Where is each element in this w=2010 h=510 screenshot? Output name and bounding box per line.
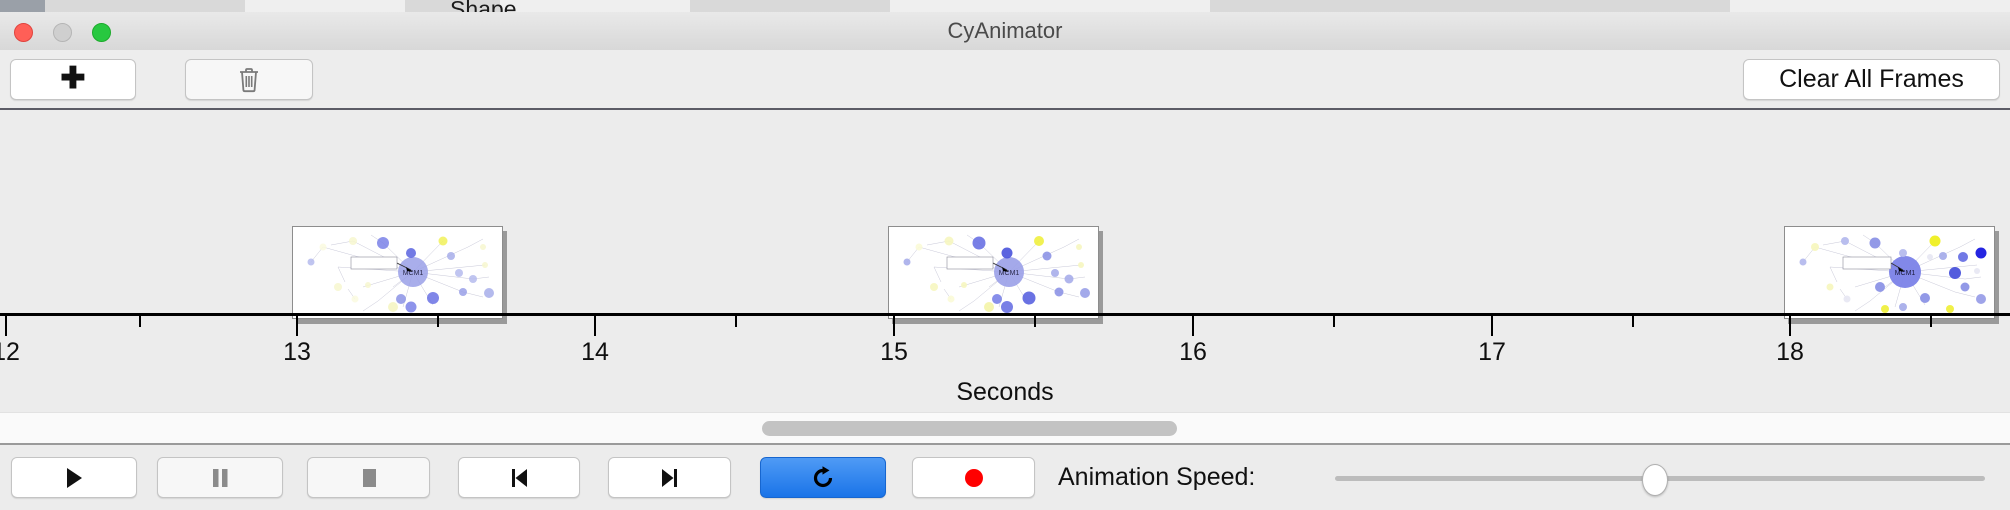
trash-icon bbox=[238, 67, 260, 93]
timeline-frame[interactable]: MCM1 bbox=[292, 226, 507, 322]
axis-tick bbox=[1789, 316, 1791, 336]
window-title: CyAnimator bbox=[0, 12, 2010, 50]
loop-icon bbox=[810, 465, 836, 491]
clear-all-frames-button[interactable]: Clear All Frames bbox=[1743, 59, 2000, 100]
record-button[interactable] bbox=[912, 457, 1035, 498]
animation-speed-slider[interactable] bbox=[1335, 476, 1985, 481]
animation-speed-label: Animation Speed: bbox=[1058, 457, 1255, 498]
pause-icon bbox=[209, 466, 231, 490]
axis-tick-label: 17 bbox=[1478, 338, 1506, 367]
delete-frame-button[interactable] bbox=[185, 59, 313, 100]
network-thumbnail-image: MCM1 bbox=[1785, 227, 1994, 318]
timeline-frame[interactable]: MCM1 bbox=[888, 226, 1103, 322]
axis-tick-label: 15 bbox=[880, 338, 908, 367]
add-frame-button[interactable]: ✚ bbox=[10, 59, 136, 100]
timeline-frame[interactable]: MCM1 bbox=[1784, 226, 1999, 322]
title-bar: CyAnimator bbox=[0, 12, 2010, 51]
axis-tick-label: 13 bbox=[283, 338, 311, 367]
record-icon bbox=[962, 466, 986, 490]
cyanimator-window: Shape CyAnimator ✚ Clear All Frames bbox=[0, 0, 2010, 510]
skip-back-icon bbox=[508, 466, 530, 490]
axis-tick bbox=[1930, 316, 1932, 327]
timeline-scrollbar-thumb[interactable] bbox=[762, 421, 1177, 436]
playback-toolbar: Animation Speed: bbox=[0, 445, 2010, 510]
stop-icon bbox=[358, 466, 380, 490]
frame-thumbnail: MCM1 bbox=[888, 226, 1099, 319]
axis-tick bbox=[296, 316, 298, 336]
network-thumbnail-image: MCM1 bbox=[889, 227, 1098, 318]
last-frame-button[interactable] bbox=[608, 457, 731, 498]
axis-tick bbox=[1192, 316, 1194, 336]
axis-tick bbox=[1491, 316, 1493, 336]
svg-text:MCM1: MCM1 bbox=[403, 270, 424, 277]
frame-thumbnail: MCM1 bbox=[1784, 226, 1995, 319]
axis-tick bbox=[1333, 316, 1335, 327]
axis-tick-label: 18 bbox=[1776, 338, 1804, 367]
axis-title: Seconds bbox=[0, 378, 2010, 407]
clear-all-frames-label: Clear All Frames bbox=[1779, 65, 1964, 94]
axis-tick bbox=[139, 316, 141, 327]
play-button[interactable] bbox=[11, 457, 137, 498]
network-thumbnail-image: MCM1 bbox=[293, 227, 502, 318]
slider-thumb[interactable] bbox=[1642, 464, 1668, 496]
frame-thumbnail: MCM1 bbox=[292, 226, 503, 319]
axis-tick bbox=[1632, 316, 1634, 327]
timeline-scrollbar[interactable] bbox=[0, 412, 2010, 445]
svg-text:MCM1: MCM1 bbox=[1895, 270, 1916, 277]
timeline-panel[interactable]: MCM1 bbox=[0, 110, 2010, 410]
axis-tick bbox=[437, 316, 439, 327]
axis-tick bbox=[735, 316, 737, 327]
toolbar: ✚ Clear All Frames bbox=[0, 50, 2010, 110]
axis-tick-label: 16 bbox=[1179, 338, 1207, 367]
axis-tick-label: 14 bbox=[581, 338, 609, 367]
timeline-axis-line bbox=[0, 313, 2010, 316]
plus-icon: ✚ bbox=[60, 64, 85, 94]
first-frame-button[interactable] bbox=[458, 457, 580, 498]
loop-button[interactable] bbox=[760, 457, 886, 498]
svg-text:MCM1: MCM1 bbox=[999, 270, 1020, 277]
skip-forward-icon bbox=[659, 466, 681, 490]
axis-tick bbox=[594, 316, 596, 336]
play-icon bbox=[63, 466, 85, 490]
axis-tick bbox=[893, 316, 895, 336]
axis-tick bbox=[5, 316, 7, 336]
axis-tick-label: 12 bbox=[0, 338, 20, 367]
axis-tick bbox=[1034, 316, 1036, 327]
stop-button[interactable] bbox=[307, 457, 430, 498]
pause-button[interactable] bbox=[157, 457, 283, 498]
